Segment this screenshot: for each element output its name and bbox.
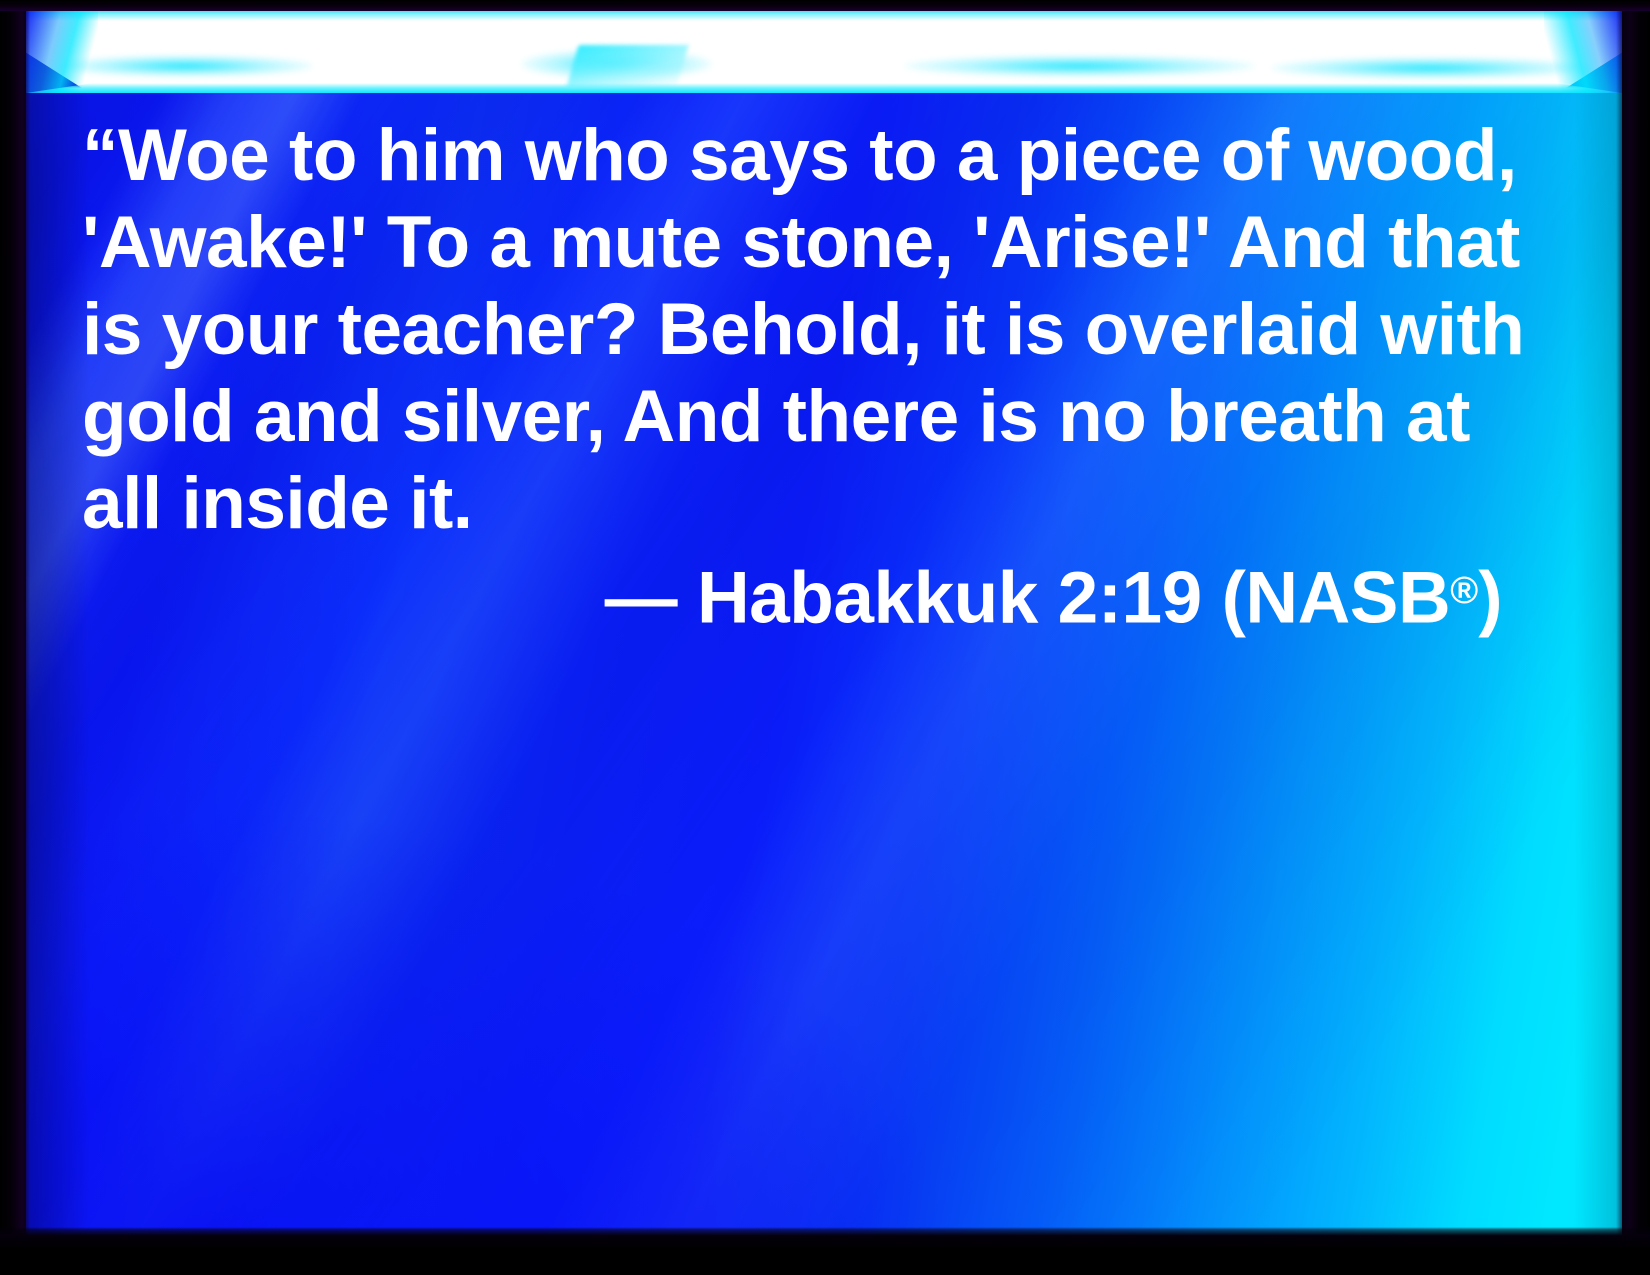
verse-line-3: is your teacher? Behold, it is overlaid … (82, 286, 1502, 373)
verse-line-5: all inside it. (82, 460, 1502, 547)
slide-canvas: “Woe to him who says to a piece of wood,… (0, 0, 1650, 1275)
attribution-translation-close: ) (1478, 558, 1502, 639)
registered-trademark-icon: ® (1450, 570, 1478, 612)
top-glow-band (26, 9, 1622, 93)
verse-line-4: gold and silver, And there is no breath … (82, 373, 1502, 460)
glow-band-bottom-cyan-edge (26, 83, 1622, 93)
verse-line-2: 'Awake!' To a mute stone, 'Arise!' And t… (82, 199, 1502, 286)
verse-line-1: “Woe to him who says to a piece of wood, (82, 112, 1502, 199)
glow-band-left-chamfer (26, 9, 98, 93)
attribution-reference: Habakkuk 2:19 (697, 558, 1202, 639)
glow-band-right-chamfer (1544, 9, 1622, 93)
glow-band-core (26, 9, 1622, 93)
verse-text-block: “Woe to him who says to a piece of wood,… (82, 112, 1502, 547)
verse-attribution: — Habakkuk 2:19 (NASB®) (82, 548, 1502, 642)
glow-wisp-d (1271, 57, 1590, 79)
glow-band-top-cyan-edge (26, 9, 1622, 21)
attribution-dash: — (605, 558, 678, 639)
glow-wisp-c (904, 55, 1255, 77)
attribution-translation-open: (NASB (1222, 558, 1451, 639)
